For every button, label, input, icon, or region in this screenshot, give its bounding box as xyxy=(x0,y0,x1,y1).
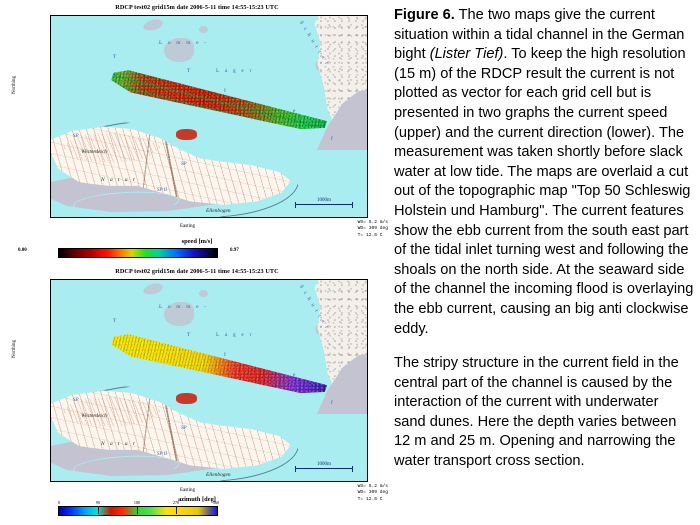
lower-x-axis-label: Easting xyxy=(180,488,195,493)
map-label-t2: T xyxy=(187,332,193,338)
lower-map-panel: RDCP test02 grid15m date 2006-5-11 time … xyxy=(4,268,390,522)
upper-colorbar-gradient xyxy=(58,248,218,258)
scale-bar-label: 1000m xyxy=(295,462,353,467)
map-label-sp-3: SP II xyxy=(157,452,167,457)
map-label-westerdeich: Westerdeich xyxy=(81,413,107,419)
upper-y-axis-label: Northing xyxy=(12,76,17,94)
map-label-t1: T xyxy=(113,318,119,324)
azimuth-tickmark xyxy=(98,506,99,514)
island-built-area xyxy=(176,129,198,140)
wind-direction-annotation: WD= 309 deg xyxy=(358,226,388,232)
scale-bar-line xyxy=(295,468,353,469)
map-label-lager: L a g e r xyxy=(216,68,254,74)
azimuth-tick-90: 90 xyxy=(96,500,100,505)
lower-scale-bar: 1000m xyxy=(295,462,353,469)
map-label-lomme: L o m m e - xyxy=(159,304,208,310)
upper-colorbar: speed [m/s] 0.00 0.97 xyxy=(4,238,390,258)
upper-map-title: RDCP test02 grid15m date 2006-5-11 time … xyxy=(4,4,390,11)
map-label-t1: T xyxy=(113,54,119,60)
azimuth-tickmark xyxy=(176,506,177,514)
map-label-i: I xyxy=(224,352,228,358)
lower-y-axis-label: Northing xyxy=(12,340,17,358)
map-label-sp-1: SP xyxy=(73,134,79,139)
azimuth-tickmark xyxy=(137,506,138,514)
azimuth-tick-0: 0 xyxy=(58,500,60,505)
scale-bar-label: 1000m xyxy=(295,198,353,203)
caption-paragraph-1: Figure 6. The two maps give the current … xyxy=(394,6,694,339)
map-label-f: f xyxy=(331,400,335,406)
map-label-lomme: L o m m e - xyxy=(159,40,208,46)
lower-map-frame: L o m m e - L a g e r S c h u t t e l T … xyxy=(50,279,368,482)
azimuth-tick-180: 180 xyxy=(134,500,140,505)
shoal-patch xyxy=(199,290,208,297)
caption-paragraph-2: The stripy structure in the current fiel… xyxy=(394,354,694,472)
upper-measurement-annotations: WS= 5.2 m/s WD= 309 deg T= 12.5 C xyxy=(358,220,388,239)
island-built-area xyxy=(176,393,198,404)
map-label-ellenbogen: Ellenbogen xyxy=(206,472,231,478)
map-label-ellenbogen: Ellenbogen xyxy=(206,208,231,214)
figure-caption: Figure 6. The two maps give the current … xyxy=(394,6,694,521)
upper-colorbar-title: speed [m/s] xyxy=(4,238,390,245)
upper-map-frame: L o m m e - L a g e r S c h u t t e l T … xyxy=(50,15,368,218)
figure-page: RDCP test02 grid15m date 2006-5-11 time … xyxy=(0,0,700,525)
map-label-f: f xyxy=(331,136,335,142)
upper-colorbar-min: 0.00 xyxy=(18,248,27,253)
map-label-i: I xyxy=(224,88,228,94)
map-label-lager: L a g e r xyxy=(216,332,254,338)
upper-map-panel: RDCP test02 grid15m date 2006-5-11 time … xyxy=(4,4,390,262)
lower-map-title: RDCP test02 grid15m date 2006-5-11 time … xyxy=(4,268,390,275)
azimuth-tick-270: 270 xyxy=(173,500,179,505)
upper-scale-bar: 1000m xyxy=(295,198,353,205)
map-label-t2: T xyxy=(187,68,193,74)
figure-number-label: Figure 6. xyxy=(394,7,455,23)
azimuth-tick-360: 360 xyxy=(213,500,219,505)
caption-p1-part-b: . To keep the high resolution (15 m) of … xyxy=(394,46,693,336)
map-label-sp-1: SP xyxy=(73,398,79,403)
lower-colorbar-title: azimuth [deg] xyxy=(4,496,390,503)
map-label-sp-2: SP xyxy=(181,162,187,167)
upper-colorbar-max: 0.97 xyxy=(230,248,239,253)
shoal-patch xyxy=(199,26,208,33)
map-label-westerdeich: Westerdeich xyxy=(81,149,107,155)
map-label-e: e xyxy=(293,108,298,114)
map-label-sp-2: SP xyxy=(181,426,187,431)
lower-colorbar: azimuth [deg] 0 90 180 270 360 xyxy=(4,496,390,516)
map-label-e: e xyxy=(293,372,298,378)
map-label-sp-3: SP II xyxy=(157,188,167,193)
map-label-natur: N a t u r xyxy=(101,441,137,447)
lower-colorbar-gradient xyxy=(58,506,218,516)
upper-x-axis-label: Easting xyxy=(180,224,195,229)
caption-lister-tief: (Lister Tief) xyxy=(430,46,504,62)
map-label-natur: N a t u r xyxy=(101,177,137,183)
scale-bar-line xyxy=(295,204,353,205)
